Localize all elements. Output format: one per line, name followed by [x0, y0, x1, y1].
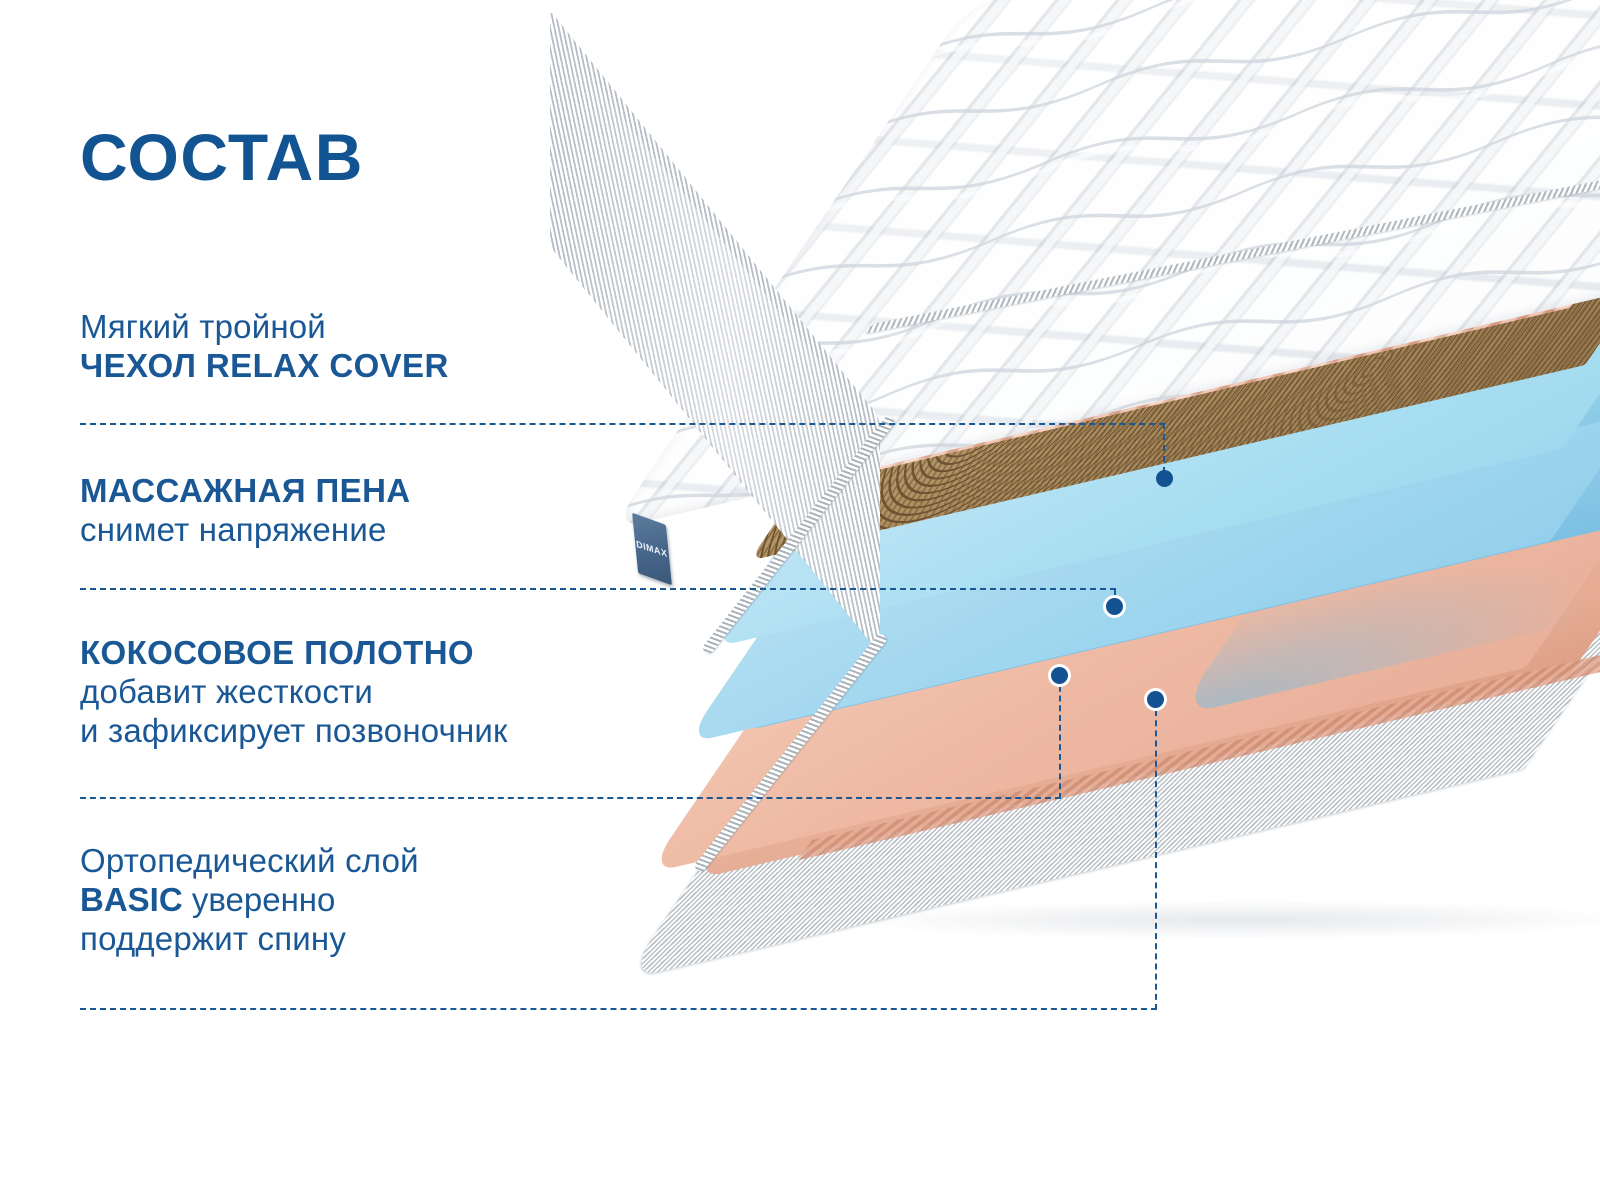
leader-line-2-horizontal: [80, 588, 1116, 590]
leader-line-4-horizontal: [80, 1008, 1157, 1010]
callout-4-line-2-regular: уверенно: [183, 881, 336, 918]
leader-line-1-vertical: [1163, 423, 1165, 473]
leader-line-1-horizontal: [80, 423, 1165, 425]
callout-1-line-1: Мягкий тройной: [80, 308, 449, 347]
callout-4-line-2-bold: BASIC: [80, 881, 183, 918]
callout-4-line-1: Ортопедический слой: [80, 842, 419, 881]
callout-3-text: КОКОСОВОЕ ПОЛОТНО добавит жесткости и за…: [80, 634, 508, 751]
callout-4-line-2: BASIC уверенно: [80, 881, 419, 920]
callout-2-line-1: МАССАЖНАЯ ПЕНА: [80, 472, 411, 511]
callout-2-text: МАССАЖНАЯ ПЕНА снимет напряжение: [80, 472, 411, 550]
leader-line-3-vertical: [1059, 676, 1061, 799]
callout-3-line-3: и зафиксирует позвоночник: [80, 712, 508, 751]
callout-dot-1: [1156, 470, 1173, 487]
callout-1-line-2: ЧЕХОЛ RELAX COVER: [80, 347, 449, 386]
callout-3-line-2: добавит жесткости: [80, 673, 508, 712]
mattress-cutaway-illustration: DIMAX: [540, 300, 1600, 950]
callout-dot-2: [1106, 598, 1123, 615]
callout-dot-4: [1147, 691, 1164, 708]
leader-line-4-vertical: [1155, 700, 1157, 1010]
page-title: СОСТАВ: [80, 124, 364, 190]
callout-3-line-1: КОКОСОВОЕ ПОЛОТНО: [80, 634, 508, 673]
callout-4-text: Ортопедический слой BASIC уверенно подде…: [80, 842, 419, 959]
leader-line-3-horizontal: [80, 797, 1061, 799]
callout-4-line-3: поддержит спину: [80, 920, 419, 959]
infographic-canvas: СОСТАВ: [0, 0, 1600, 1200]
brand-tag: DIMAX: [632, 513, 672, 586]
mattress-shadow: [824, 900, 1600, 940]
callout-2-line-2: снимет напряжение: [80, 511, 411, 550]
brand-tag-label: DIMAX: [636, 539, 669, 560]
callout-1-text: Мягкий тройной ЧЕХОЛ RELAX COVER: [80, 308, 449, 386]
callout-dot-3: [1051, 667, 1068, 684]
